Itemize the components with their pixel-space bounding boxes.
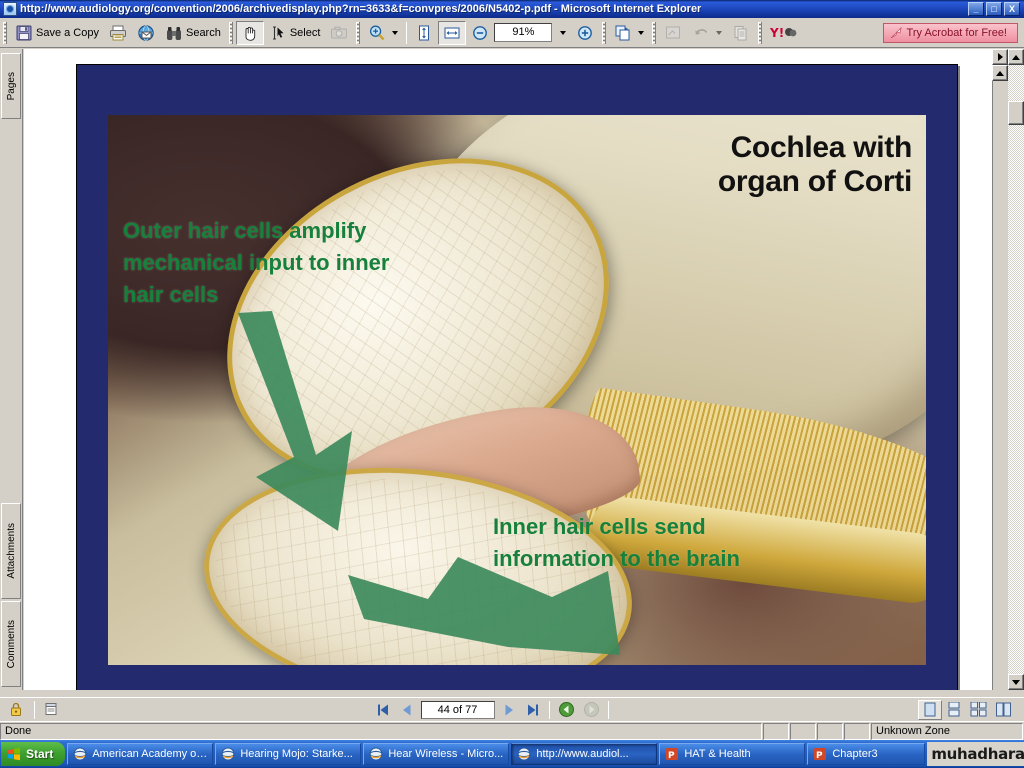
scroll-up-button[interactable]	[1008, 49, 1024, 65]
signature-panel-button[interactable]	[39, 700, 65, 720]
snapshot-button[interactable]	[325, 21, 353, 45]
email-icon	[137, 24, 155, 42]
next-view-button[interactable]	[579, 700, 604, 720]
chevron-down-icon	[560, 31, 566, 35]
browser-scroll-thumb[interactable]	[1008, 101, 1024, 125]
zoom-in-icon	[368, 24, 386, 42]
email-button[interactable]	[132, 21, 160, 45]
callout-inner-line-2: information to the brain	[493, 543, 740, 575]
pdf-vertical-scrollbar[interactable]	[992, 49, 1008, 690]
zoom-out-circle-icon	[471, 24, 489, 42]
page-number-input[interactable]: 44 of 77	[421, 701, 495, 719]
security-lock-icon	[8, 701, 26, 719]
signature-panel-icon	[43, 701, 61, 719]
actual-size-button[interactable]	[410, 21, 438, 45]
search-button[interactable]: Search	[160, 21, 226, 45]
fit-height-icon	[415, 24, 433, 42]
copy-icon	[732, 24, 750, 42]
snapshot-camera-icon	[330, 24, 348, 42]
status-message: Done	[0, 723, 762, 740]
toolbar-separator-1	[406, 22, 407, 44]
yahoo-icon: Y!	[770, 24, 798, 42]
pdf-page: Cochlea with organ of Corti Outer hair c…	[76, 64, 958, 690]
svg-text:P: P	[816, 751, 823, 761]
continuous-view-button[interactable]	[942, 700, 966, 720]
nav-tab-attachments-label: Attachments	[6, 523, 17, 579]
powerpoint-icon: P	[665, 747, 679, 761]
taskbar-item-3[interactable]: http://www.audiol...	[511, 743, 657, 765]
toolbar-grip-2[interactable]	[229, 22, 233, 44]
try-acrobat-ad-button[interactable]: Try Acrobat for Free!	[883, 23, 1018, 43]
maximize-button[interactable]: □	[986, 2, 1002, 16]
taskbar-item-2-label: Hear Wireless - Micro...	[388, 748, 503, 760]
arrow-to-outer-hair-cells	[220, 305, 420, 565]
taskbar-item-4[interactable]: P HAT & Health	[659, 743, 805, 765]
acrobat-status-toolbar: 44 of 77	[0, 697, 1024, 721]
status-pane-1	[763, 723, 789, 740]
taskbar-item-5-label: Chapter3	[832, 748, 877, 760]
previous-view-button[interactable]	[554, 700, 579, 720]
navigation-tabs-strip: Pages Attachments Comments	[0, 49, 23, 690]
bottom-separator-2	[549, 701, 550, 719]
review-markup-icon	[664, 24, 682, 42]
callout-outer-line-1: Outer hair cells amplify	[123, 215, 389, 247]
scroll-down-button[interactable]	[1008, 674, 1024, 690]
zoom-level-dropdown[interactable]	[552, 21, 571, 45]
bottom-separator-1	[34, 701, 35, 719]
toolbar-grip-6[interactable]	[758, 22, 762, 44]
acrobat-toolbar: Save a Copy	[0, 18, 1024, 48]
previous-page-button[interactable]	[395, 700, 419, 720]
rotate-view-icon	[614, 24, 632, 42]
windows-taskbar: Start American Academy of... Hearing	[0, 740, 1024, 768]
rotate-view-button[interactable]	[609, 21, 649, 45]
yahoo-toolbar-button[interactable]: Y!	[765, 21, 803, 45]
window-controls: _ □ X	[968, 2, 1022, 16]
hand-tool-icon	[241, 24, 259, 42]
pdf-document-area[interactable]: Cochlea with organ of Corti Outer hair c…	[24, 49, 1008, 690]
nav-tab-pages[interactable]: Pages	[1, 53, 21, 119]
taskbar-item-4-label: HAT & Health	[684, 748, 750, 760]
toolbar-grip-5[interactable]	[652, 22, 656, 44]
undo-button[interactable]	[687, 21, 727, 45]
internet-explorer-icon	[369, 747, 383, 761]
powerpoint-icon: P	[813, 747, 827, 761]
nav-tab-pages-label: Pages	[6, 72, 17, 100]
zoom-in-circle-icon	[576, 24, 594, 42]
zoom-level-input[interactable]: 91%	[494, 23, 552, 42]
hand-tool-button[interactable]	[236, 21, 264, 45]
facing-view-button[interactable]	[991, 700, 1016, 720]
save-a-copy-button[interactable]: Save a Copy	[10, 21, 104, 45]
slide-title-line-1: Cochlea with	[718, 131, 912, 165]
callout-inner-line-1: Inner hair cells send	[493, 511, 740, 543]
start-button[interactable]: Start	[1, 742, 65, 766]
toolbar-grip-4[interactable]	[602, 22, 606, 44]
taskbar-item-1-label: Hearing Mojo: Starke...	[240, 748, 353, 760]
zoom-out-button[interactable]	[466, 21, 494, 45]
next-page-button[interactable]	[497, 700, 521, 720]
ad-arrow-icon	[890, 27, 902, 39]
fit-width-icon	[443, 24, 461, 42]
internet-explorer-icon	[3, 2, 17, 16]
undo-icon	[692, 24, 710, 42]
zoom-dropdown-caret[interactable]	[392, 31, 398, 35]
select-tool-button[interactable]: Select	[264, 21, 326, 45]
pdf-scroll-up-button-2[interactable]	[992, 65, 1008, 81]
nav-tab-comments[interactable]: Comments	[1, 601, 21, 687]
slide-title-line-2: organ of Corti	[718, 165, 912, 199]
print-button[interactable]	[104, 21, 132, 45]
status-pane-2	[790, 723, 816, 740]
review-markup-button[interactable]	[659, 21, 687, 45]
single-page-view-button[interactable]	[918, 700, 942, 720]
window-title: http://www.audiology.org/convention/2006…	[20, 3, 701, 15]
internet-explorer-icon	[517, 747, 531, 761]
last-page-button[interactable]	[521, 700, 545, 720]
taskbar-item-0-label: American Academy of...	[92, 748, 207, 760]
status-pane-4	[844, 723, 870, 740]
browser-window: http://www.audiology.org/convention/2006…	[0, 0, 1024, 768]
internet-explorer-icon	[221, 747, 235, 761]
taskbar-item-5[interactable]: P Chapter3	[807, 743, 925, 765]
taskbar-item-1[interactable]: Hearing Mojo: Starke...	[215, 743, 361, 765]
slide-title: Cochlea with organ of Corti	[718, 131, 912, 198]
copy-button[interactable]	[727, 21, 755, 45]
select-label: Select	[290, 27, 321, 39]
select-text-icon	[269, 24, 287, 42]
zoom-in-button[interactable]	[363, 21, 403, 45]
print-icon	[109, 24, 127, 42]
close-button[interactable]: X	[1004, 2, 1020, 16]
status-zone: Unknown Zone	[871, 723, 1023, 740]
browser-status-bar: Done Unknown Zone	[0, 721, 1024, 740]
security-lock-button[interactable]	[4, 700, 30, 720]
watermark-brand: muhadharaty.com	[927, 742, 1024, 766]
svg-text:Y!: Y!	[770, 26, 784, 40]
first-page-button[interactable]	[371, 700, 395, 720]
minimize-button[interactable]: _	[968, 2, 984, 16]
zoom-in-circle-button[interactable]	[571, 21, 599, 45]
chevron-up-icon	[996, 71, 1004, 76]
chevron-up-icon	[1012, 55, 1020, 60]
callout-outer-hair-cells: Outer hair cells amplify mechanical inpu…	[123, 215, 389, 311]
slide-image: Cochlea with organ of Corti Outer hair c…	[108, 115, 926, 665]
taskbar-item-3-label: http://www.audiol...	[536, 748, 628, 760]
chevron-right-icon	[998, 53, 1003, 61]
save-disk-icon	[15, 24, 33, 42]
callout-inner-hair-cells: Inner hair cells send information to the…	[493, 511, 740, 575]
binoculars-icon	[165, 24, 183, 42]
title-bar: http://www.audiology.org/convention/2006…	[0, 0, 1024, 18]
status-pane-3	[817, 723, 843, 740]
taskbar-item-2[interactable]: Hear Wireless - Micro...	[363, 743, 509, 765]
bottom-separator-3	[608, 701, 609, 719]
search-label: Search	[186, 27, 221, 39]
fit-width-button[interactable]	[438, 21, 466, 45]
callout-outer-line-2: mechanical input to inner	[123, 247, 389, 279]
nav-tab-attachments[interactable]: Attachments	[1, 503, 21, 599]
save-a-copy-label: Save a Copy	[36, 27, 99, 39]
toolbar-grip-3[interactable]	[356, 22, 360, 44]
rotate-dropdown-caret[interactable]	[638, 31, 644, 35]
chevron-down-icon	[1012, 680, 1020, 685]
undo-dropdown-caret[interactable]	[716, 31, 722, 35]
callout-outer-line-3: hair cells	[123, 279, 389, 311]
windows-flag-icon	[7, 747, 21, 761]
start-label: Start	[26, 747, 53, 761]
continuous-facing-view-button[interactable]	[966, 700, 991, 720]
pdf-scroll-right-button[interactable]	[992, 49, 1008, 65]
svg-text:P: P	[668, 751, 675, 761]
nav-tab-comments-label: Comments	[6, 620, 17, 668]
browser-vertical-scrollbar[interactable]	[1008, 49, 1024, 690]
toolbar-grip[interactable]	[3, 22, 7, 44]
internet-explorer-icon	[73, 747, 87, 761]
try-acrobat-ad-label: Try Acrobat for Free!	[907, 27, 1007, 39]
taskbar-item-0[interactable]: American Academy of...	[67, 743, 213, 765]
